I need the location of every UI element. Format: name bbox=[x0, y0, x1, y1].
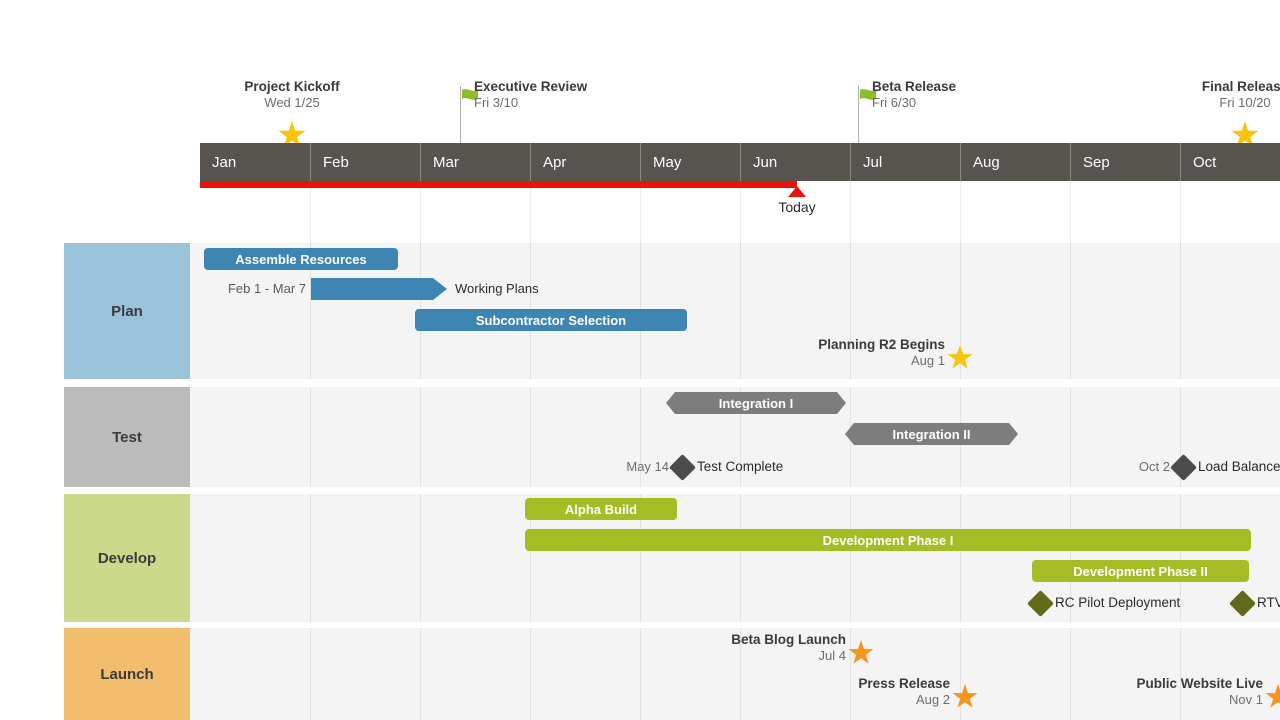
gridline bbox=[850, 181, 851, 243]
gridline bbox=[960, 181, 961, 243]
milestone-date: Oct 2 bbox=[1093, 456, 1170, 478]
gridline bbox=[310, 387, 311, 487]
top-milestone-title: Executive Review bbox=[474, 79, 587, 95]
month-column-jan[interactable]: Jan bbox=[200, 143, 310, 181]
month-column-sep[interactable]: Sep bbox=[1070, 143, 1180, 181]
gridline bbox=[640, 181, 641, 243]
milestone-date: Aug 2 bbox=[858, 692, 950, 708]
top-milestone-title: Beta Release bbox=[872, 79, 956, 95]
gridline bbox=[640, 628, 641, 720]
task-bar[interactable]: Development Phase II bbox=[1032, 560, 1249, 582]
task-bar[interactable]: Integration I bbox=[666, 392, 846, 414]
top-milestone-date: Wed 1/25 bbox=[244, 95, 339, 111]
swimlane-launch: Launch bbox=[64, 628, 1280, 720]
task-date-range: Feb 1 - Mar 7 bbox=[226, 278, 306, 300]
swimlane-label-launch[interactable]: Launch bbox=[64, 628, 190, 720]
month-column-may[interactable]: May bbox=[640, 143, 740, 181]
top-milestone-title: Final Release bbox=[1202, 79, 1280, 95]
swimlane-label-test[interactable]: Test bbox=[64, 387, 190, 487]
milestone-title: Public Website Live bbox=[1136, 676, 1263, 692]
milestone-label[interactable]: Test Complete bbox=[697, 456, 783, 478]
top-milestone[interactable]: Final ReleaseFri 10/20 bbox=[1202, 79, 1280, 111]
gridline bbox=[530, 628, 531, 720]
gridline bbox=[850, 628, 851, 720]
gridline bbox=[310, 628, 311, 720]
month-column-mar[interactable]: Mar bbox=[420, 143, 530, 181]
gridline bbox=[420, 181, 421, 243]
gridline bbox=[1070, 387, 1071, 487]
milestone-callout[interactable]: Beta Blog LaunchJul 4 bbox=[731, 632, 846, 664]
top-milestone-title: Project Kickoff bbox=[244, 79, 339, 95]
gridline bbox=[740, 243, 741, 379]
gridline bbox=[420, 494, 421, 622]
task-bar[interactable]: Development Phase I bbox=[525, 529, 1251, 551]
gridline bbox=[530, 387, 531, 487]
task-bar[interactable]: Alpha Build bbox=[525, 498, 677, 520]
timeline-header: JanFebMarAprMayJunJulAugSepOct bbox=[200, 143, 1280, 181]
gridline bbox=[310, 494, 311, 622]
gantt-chart: Project KickoffWed 1/25Executive ReviewF… bbox=[0, 0, 1280, 720]
top-milestone[interactable]: Executive ReviewFri 3/10 bbox=[474, 79, 587, 111]
milestone-title: Press Release bbox=[858, 676, 950, 692]
milestone-label[interactable]: RC Pilot Deployment bbox=[1055, 592, 1180, 614]
swimlane-label-develop[interactable]: Develop bbox=[64, 494, 190, 622]
gridline bbox=[310, 181, 311, 243]
gridline bbox=[960, 494, 961, 622]
top-milestone[interactable]: Beta ReleaseFri 6/30 bbox=[872, 79, 956, 111]
milestone-date: Jul 4 bbox=[731, 648, 846, 664]
month-column-oct[interactable]: Oct bbox=[1180, 143, 1280, 181]
today-label: Today bbox=[778, 199, 815, 215]
gridline bbox=[420, 628, 421, 720]
month-column-feb[interactable]: Feb bbox=[310, 143, 420, 181]
gridline bbox=[1180, 181, 1181, 243]
top-milestone-date: Fri 3/10 bbox=[474, 95, 587, 111]
task-bar[interactable]: Subcontractor Selection bbox=[415, 309, 687, 331]
month-column-aug[interactable]: Aug bbox=[960, 143, 1070, 181]
task-bar[interactable]: Assemble Resources bbox=[204, 248, 398, 270]
milestone-title: Planning R2 Begins bbox=[818, 337, 945, 353]
gridline bbox=[960, 628, 961, 720]
milestone-label[interactable]: Load Balance bbox=[1198, 456, 1280, 478]
task-bar-label: Working Plans bbox=[455, 278, 539, 300]
progress-bar bbox=[200, 181, 797, 188]
top-milestone-date: Fri 10/20 bbox=[1202, 95, 1280, 111]
month-column-jun[interactable]: Jun bbox=[740, 143, 850, 181]
gridline bbox=[850, 494, 851, 622]
milestone-callout[interactable]: Public Website LiveNov 1 bbox=[1136, 676, 1263, 708]
gridline bbox=[420, 387, 421, 487]
milestone-label[interactable]: RTV bbox=[1257, 592, 1280, 614]
milestone-callout[interactable]: Planning R2 BeginsAug 1 bbox=[818, 337, 945, 369]
gridline bbox=[1070, 243, 1071, 379]
month-column-apr[interactable]: Apr bbox=[530, 143, 640, 181]
milestone-date: Aug 1 bbox=[818, 353, 945, 369]
gridline bbox=[740, 494, 741, 622]
task-bar[interactable] bbox=[311, 278, 447, 300]
today-marker-icon bbox=[788, 186, 806, 197]
gridline bbox=[1070, 628, 1071, 720]
top-milestone[interactable]: Project KickoffWed 1/25 bbox=[244, 79, 339, 111]
gridline bbox=[1070, 181, 1071, 243]
gridline bbox=[1180, 243, 1181, 379]
milestone-date: Nov 1 bbox=[1136, 692, 1263, 708]
milestone-date: May 14 bbox=[592, 456, 669, 478]
swimlane-label-plan[interactable]: Plan bbox=[64, 243, 190, 379]
top-milestone-date: Fri 6/30 bbox=[872, 95, 956, 111]
milestone-title: Beta Blog Launch bbox=[731, 632, 846, 648]
gridline bbox=[740, 181, 741, 243]
gridline bbox=[530, 181, 531, 243]
milestone-callout[interactable]: Press ReleaseAug 2 bbox=[858, 676, 950, 708]
task-bar[interactable]: Integration II bbox=[845, 423, 1018, 445]
month-column-jul[interactable]: Jul bbox=[850, 143, 960, 181]
